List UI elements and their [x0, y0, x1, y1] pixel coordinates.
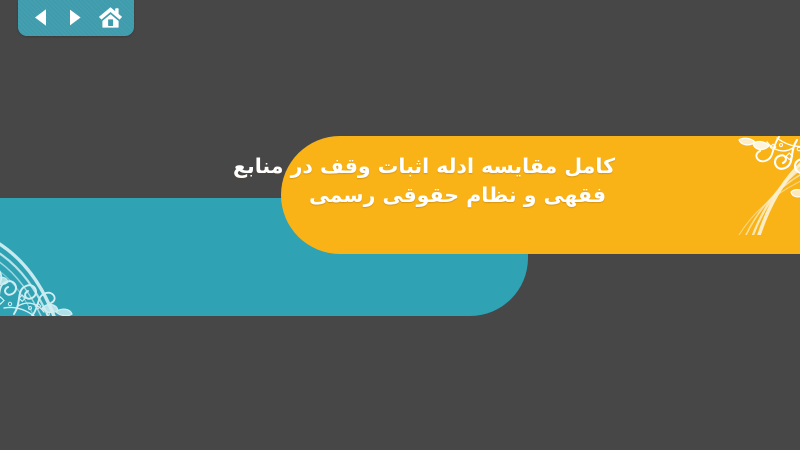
- home-icon: [98, 6, 123, 29]
- arabesque-corner-ornament-teal: [0, 220, 112, 316]
- next-arrow-icon: [68, 8, 83, 27]
- navigation-bar: [18, 0, 134, 36]
- slide-canvas: کامل مقایسه ادله اثبات وقف در منابع فقهی…: [0, 0, 800, 450]
- home-button[interactable]: [95, 2, 125, 32]
- back-button[interactable]: [25, 2, 55, 32]
- slide-title: کامل مقایسه ادله اثبات وقف در منابع فقهی…: [300, 152, 615, 210]
- slide-title-line-1: کامل مقایسه ادله اثبات وقف در منابع: [300, 152, 615, 181]
- arabesque-corner-ornament-orange: [697, 136, 800, 235]
- slide-title-line-2: فقهی و نظام حقوقی رسمی: [300, 181, 615, 210]
- forward-button[interactable]: [60, 2, 90, 32]
- previous-arrow-icon: [32, 8, 49, 27]
